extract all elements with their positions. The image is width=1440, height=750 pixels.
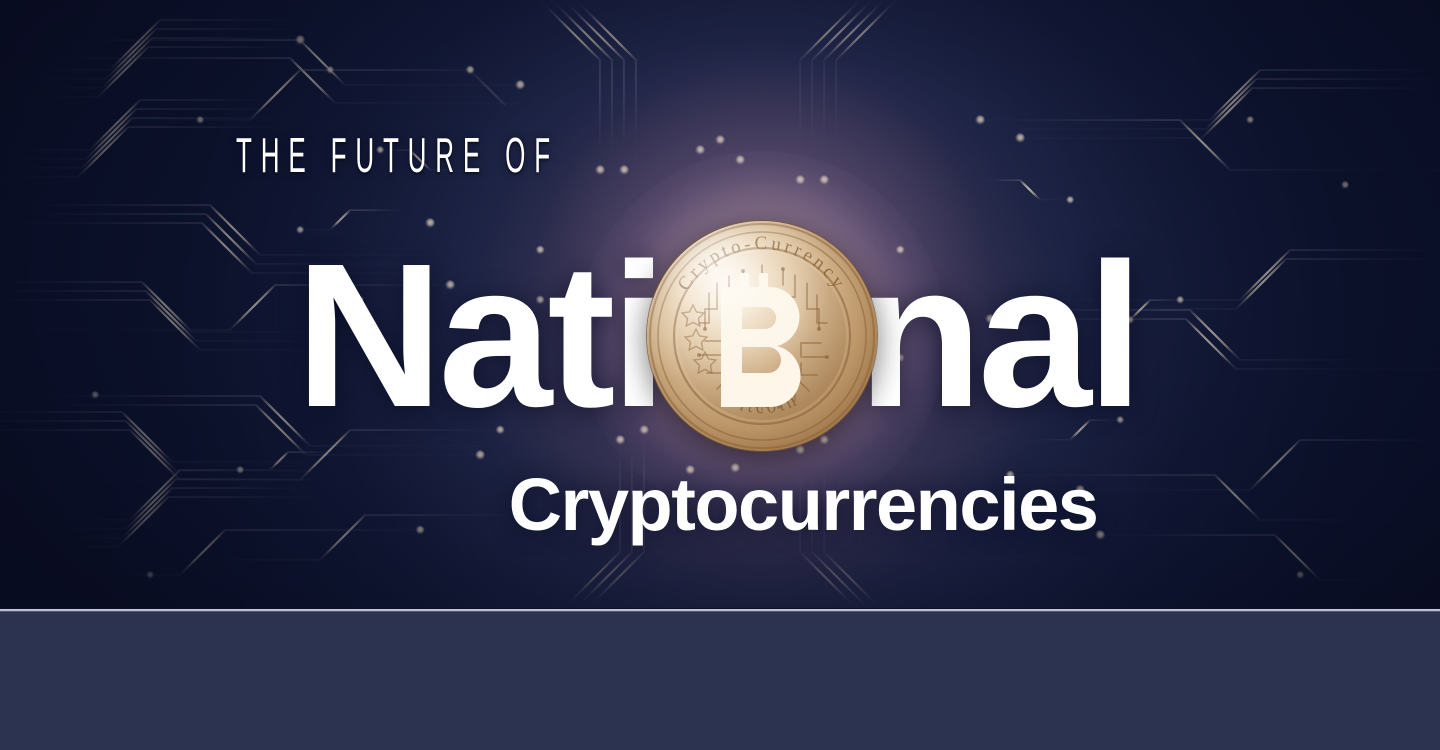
bitcoin-coin: Crypto-Currency Bitcoin (647, 221, 877, 451)
coin-specular (647, 221, 877, 451)
title-text-right: nal (858, 236, 1139, 436)
poster-canvas: THE FUTURE OF Nati (0, 0, 1440, 750)
sponsor-footer: RÆDER BNCC BNCC British • Norwegian Cham… (0, 612, 1440, 750)
title-text-left: Nati (295, 236, 662, 436)
svg-text:Crypto-Currency: Crypto-Currency (673, 233, 850, 295)
kicker-text: THE FUTURE OF (236, 131, 559, 181)
hero-content: THE FUTURE OF Nati (0, 0, 1440, 612)
main-title: Nati (0, 236, 1440, 436)
svg-text:Bitcoin: Bitcoin (721, 389, 802, 418)
coin-face: Crypto-Currency Bitcoin (647, 221, 877, 451)
subtitle-text: Cryptocurrencies (83, 462, 1440, 547)
